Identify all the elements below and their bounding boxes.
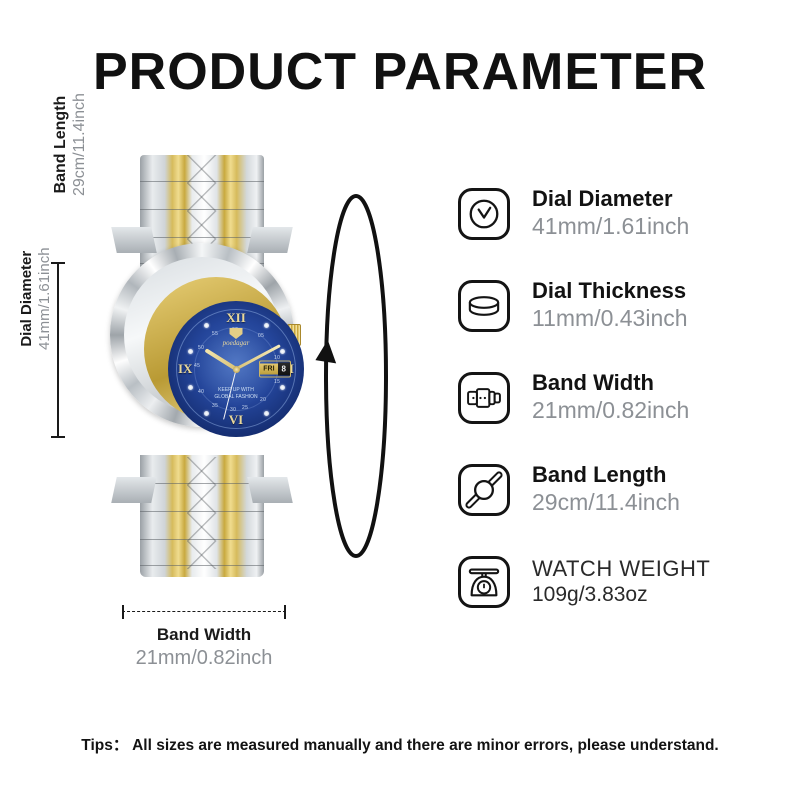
dial-diameter-dimension-label: Dial Diameter	[18, 247, 35, 350]
dial-thickness-icon	[458, 280, 510, 332]
spec-row-band-width: Band Width 21mm/0.82inch	[458, 352, 788, 444]
band-width-dimension-value: 21mm/0.82inch	[102, 647, 306, 670]
case-inner: XII IX III VI 60 05 10	[124, 257, 280, 413]
date-value: 8	[278, 363, 290, 376]
product-parameter-infographic: PRODUCT PARAMETER	[0, 0, 800, 800]
band-width-dimension-label: Band Width	[102, 625, 306, 645]
minute-45: 45	[194, 363, 200, 369]
minute-35: 35	[212, 403, 218, 409]
dimension-line	[57, 262, 59, 438]
dimension-cap-top	[51, 262, 65, 264]
spec-value-dial-thickness: 11mm/0.43inch	[532, 305, 688, 333]
day-value: FRI	[260, 364, 277, 375]
spec-row-dial-thickness: Dial Thickness 11mm/0.43inch	[458, 260, 788, 352]
minute-20: 20	[260, 397, 266, 403]
band-length-loop-text: Band Length 29cm/11.4inch	[52, 93, 89, 196]
spec-value-watch-weight: 109g/3.83oz	[532, 582, 710, 607]
spec-text-watch-weight: WATCH WEIGHT 109g/3.83oz	[532, 557, 710, 608]
band-width-icon	[458, 372, 510, 424]
spec-value-dial-diameter: 41mm/1.61inch	[532, 213, 689, 241]
minute-40: 40	[198, 389, 204, 395]
roman-numeral-9: IX	[178, 361, 192, 377]
lug-top-left	[111, 227, 157, 253]
watch-case: XII IX III VI 60 05 10	[110, 243, 294, 427]
spec-label-dial-thickness: Dial Thickness	[532, 279, 688, 304]
spec-row-dial-diameter: Dial Diameter 41mm/1.61inch	[458, 168, 788, 260]
tips-footer: Tips： All sizes are measured manually an…	[0, 733, 800, 755]
spec-row-band-length: Band Length 29cm/11.4inch	[458, 444, 788, 536]
slogan-line-2: GLOBAL FASHION	[214, 394, 257, 400]
minute-50: 50	[198, 345, 204, 351]
center-pin	[233, 366, 240, 373]
brand-logo: poedagar	[223, 339, 250, 347]
spec-label-band-width: Band Width	[532, 371, 689, 396]
loop-arrow-icon	[312, 190, 398, 562]
dial-diameter-dimension-value: 41mm/1.61inch	[36, 247, 53, 350]
roman-numeral-6: VI	[229, 412, 243, 428]
bracelet-lower	[140, 455, 264, 577]
day-date-window: FRI 8	[259, 361, 291, 378]
minute-15: 15	[274, 379, 280, 385]
spec-row-watch-weight: WATCH WEIGHT 109g/3.83oz	[458, 536, 788, 628]
slogan-line-1: KEEP UP WITH	[218, 387, 254, 393]
minute-30: 30	[230, 407, 236, 413]
spec-text-dial-thickness: Dial Thickness 11mm/0.43inch	[532, 279, 688, 332]
spec-label-watch-weight: WATCH WEIGHT	[532, 557, 710, 582]
dial-diameter-icon	[458, 188, 510, 240]
watch-dial: XII IX III VI 60 05 10	[168, 301, 304, 437]
lug-top-right	[247, 227, 293, 253]
band-length-icon	[458, 464, 510, 516]
minute-55: 55	[212, 331, 218, 337]
watch-weight-icon	[458, 556, 510, 608]
dimension-cap-right	[284, 605, 286, 619]
spec-value-band-length: 29cm/11.4inch	[532, 489, 680, 517]
watch-illustration: XII IX III VI 60 05 10	[92, 155, 312, 575]
spec-label-band-length: Band Length	[532, 463, 680, 488]
spec-label-dial-diameter: Dial Diameter	[532, 187, 689, 212]
band-length-loop-label: Band Length	[52, 93, 70, 196]
spec-text-band-width: Band Width 21mm/0.82inch	[532, 371, 689, 424]
lug-bottom-right	[247, 477, 293, 503]
band-length-loop-value: 29cm/11.4inch	[71, 93, 89, 196]
spec-list: Dial Diameter 41mm/1.61inch Dial Thickne…	[458, 168, 788, 628]
spec-value-band-width: 21mm/0.82inch	[532, 397, 689, 425]
spec-text-dial-diameter: Dial Diameter 41mm/1.61inch	[532, 187, 689, 240]
minute-05: 05	[258, 333, 264, 339]
page-title: PRODUCT PARAMETER	[0, 42, 800, 102]
spec-text-band-length: Band Length 29cm/11.4inch	[532, 463, 680, 516]
dial-slogan: KEEP UP WITH GLOBAL FASHION	[214, 387, 257, 401]
band-length-loop-indicator	[312, 190, 398, 562]
bracelet-links-lower	[140, 455, 264, 577]
dimension-cap-left	[122, 605, 124, 619]
dimension-dashed-line	[122, 611, 286, 612]
roman-numeral-12: XII	[226, 310, 246, 326]
dial-diameter-dimension-text: Dial Diameter 41mm/1.61inch	[18, 247, 53, 350]
lug-bottom-left	[111, 477, 157, 503]
minute-25: 25	[242, 405, 248, 411]
dimension-cap-bottom	[51, 436, 65, 438]
gold-bezel: XII IX III VI 60 05 10	[144, 277, 288, 421]
band-width-dimension-text: Band Width 21mm/0.82inch	[102, 625, 306, 670]
